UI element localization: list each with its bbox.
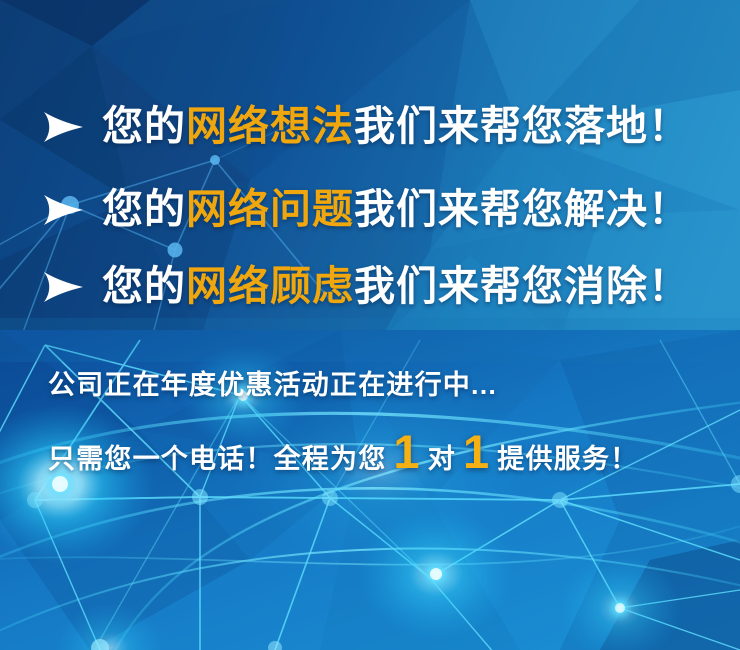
- headline-1-prefix: 您的: [102, 103, 186, 149]
- headline-2-suffix: 我们来帮您解决！: [354, 186, 690, 232]
- subline-2-part1: 只需您一个电话！全程为您: [48, 437, 386, 476]
- headline-3-highlight: 网络顾虑: [186, 263, 354, 309]
- headline-text-2: 您的网络问题我们来帮您解决！: [102, 188, 690, 231]
- arrow-right-icon: [40, 266, 86, 308]
- promotional-banner: 您的网络想法我们来帮您落地！ 您的网络问题我们来帮您解决！ 您的网络顾虑我们来帮…: [0, 0, 740, 650]
- headline-2-prefix: 您的: [102, 186, 186, 232]
- headline-row-3: 您的网络顾虑我们来帮您消除！: [40, 265, 690, 308]
- subline-2-part2: 提供服务！: [497, 437, 638, 476]
- headline-text-3: 您的网络顾虑我们来帮您消除！: [102, 265, 690, 308]
- headline-3-suffix: 我们来帮您消除！: [354, 263, 690, 309]
- promo-subline-2: 只需您一个电话！全程为您 1 对 1 提供服务！: [48, 428, 638, 476]
- arrow-right-icon: [40, 106, 86, 148]
- subline-2-number-1: 1: [386, 428, 427, 475]
- headline-row-1: 您的网络想法我们来帮您落地！: [40, 105, 690, 148]
- subline-2-middle: 对: [428, 437, 456, 476]
- promo-subline-1: 公司正在年度优惠活动正在进行中...: [48, 363, 497, 402]
- headline-1-suffix: 我们来帮您落地！: [354, 103, 690, 149]
- headline-3-prefix: 您的: [102, 263, 186, 309]
- subline-2-number-2: 1: [456, 428, 497, 475]
- headline-1-highlight: 网络想法: [186, 103, 354, 149]
- headline-row-2: 您的网络问题我们来帮您解决！: [40, 188, 690, 231]
- arrow-right-icon: [40, 189, 86, 231]
- headline-text-1: 您的网络想法我们来帮您落地！: [102, 105, 690, 148]
- headline-2-highlight: 网络问题: [186, 186, 354, 232]
